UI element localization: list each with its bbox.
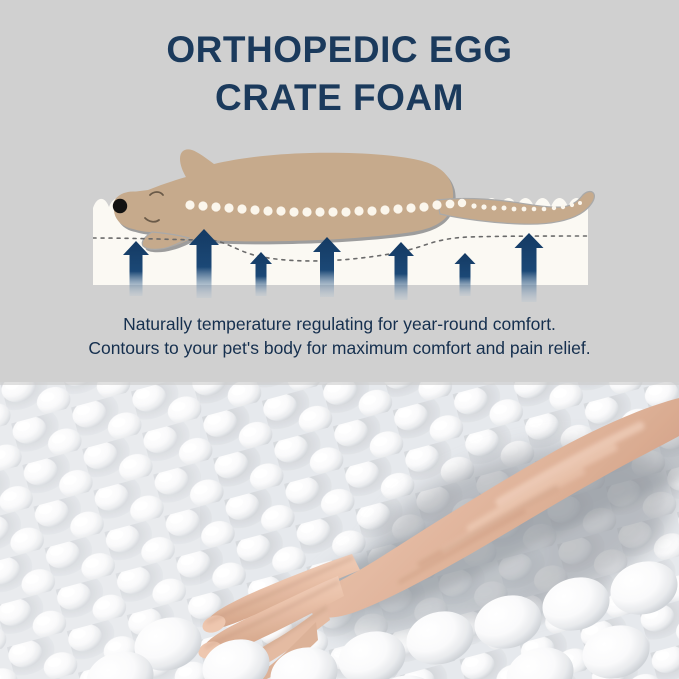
page-title: ORTHOPEDIC EGG CRATE FOAM [0,26,679,122]
feature-description: Naturally temperature regulating for yea… [0,312,679,360]
dog-on-foam-illustration [0,128,679,303]
feature-description-line-2: Contours to your pet's body for maximum … [0,336,679,360]
page-title-line-1: ORTHOPEDIC EGG [166,29,512,70]
feature-description-line-1: Naturally temperature regulating for yea… [0,312,679,336]
foam-photo-panel [0,382,679,679]
foam-closeup-photo [0,382,679,679]
page-title-line-2: CRATE FOAM [0,74,679,122]
dog-nose [113,199,127,213]
product-infographic: ORTHOPEDIC EGG CRATE FOAM [0,0,679,679]
illustration-panel: ORTHOPEDIC EGG CRATE FOAM [0,0,679,382]
